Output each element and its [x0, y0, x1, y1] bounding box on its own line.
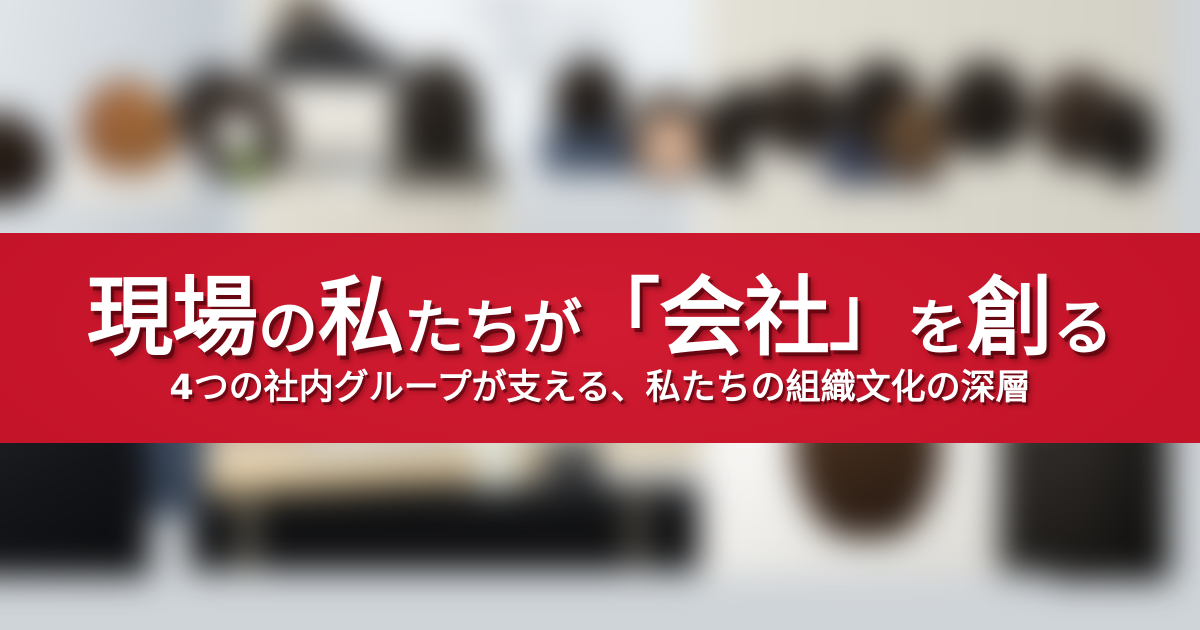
audience-person: [1098, 92, 1158, 182]
audience-person: [552, 58, 624, 136]
headline: 現場 の 私 たちが 「 会社 」 を 創 る: [87, 275, 1113, 361]
banner-content: 現場 の 私 たちが 「 会社 」 を 創 る 4つの社内グループが支える、私た…: [0, 233, 1200, 443]
subtitle: 4つの社内グループが支える、私たちの組織文化の深層: [169, 371, 1030, 406]
headline-segment: の: [257, 299, 318, 359]
audience-person: [392, 58, 482, 170]
audience-person: [940, 60, 1030, 156]
audience-person-face: [640, 115, 702, 177]
headline-segment: たちが: [403, 299, 582, 359]
smartphone: [537, 436, 605, 494]
headline-segment: 「: [582, 277, 659, 355]
face-mask: [216, 116, 260, 152]
desk-leg: [630, 480, 644, 570]
plant-icon: [236, 146, 258, 182]
headline-segment: 私: [318, 275, 403, 361]
audience-person: [104, 90, 178, 170]
headline-segment: を: [906, 299, 967, 359]
headline-segment: 現場: [87, 275, 257, 361]
headline-segment: 会社: [659, 275, 829, 361]
headline-segment: 創: [967, 275, 1052, 361]
headline-segment: 」: [829, 277, 906, 355]
audience-person: [760, 70, 840, 156]
headline-segment: る: [1052, 299, 1113, 359]
red-title-banner: 現場 の 私 たちが 「 会社 」 を 創 る 4つの社内グループが支える、私た…: [0, 233, 1200, 443]
